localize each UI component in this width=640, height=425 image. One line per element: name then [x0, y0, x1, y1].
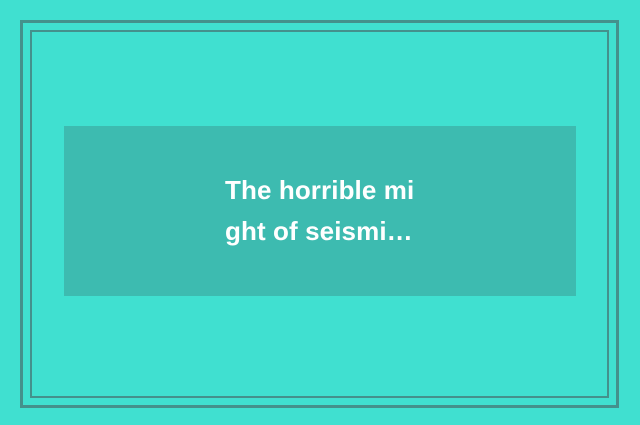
poster-canvas: The horrible might of seismi…	[0, 0, 640, 425]
card-headline: The horrible might of seismi…	[225, 170, 415, 252]
text-overlay-card: The horrible might of seismi…	[64, 126, 576, 296]
